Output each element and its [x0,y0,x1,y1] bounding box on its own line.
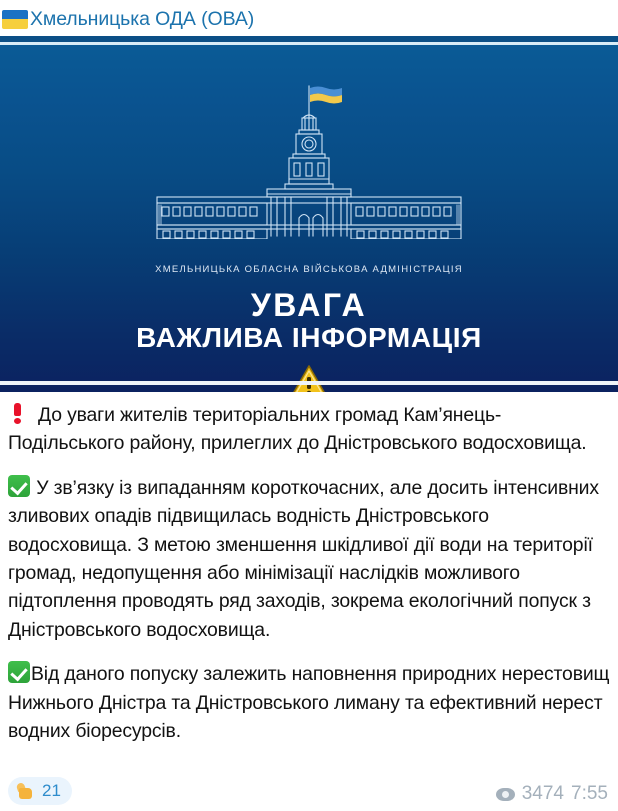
paragraph-text: До уваги жителів територіальних громад К… [8,404,587,454]
organization-name: ХМЕЛЬНИЦЬКА ОБЛАСНА ВІЙСЬКОВА АДМІНІСТРА… [0,264,618,275]
banner-bottom-line [0,381,618,385]
red-exclamation-emoji [8,402,28,424]
telegram-post: Хмельницька ОДА (ОВА) [0,0,618,811]
banner-headline-secondary: ВАЖЛИВА ІНФОРМАЦІЯ [0,322,618,354]
thumbs-up-emoji [16,781,36,801]
green-check-emoji [8,475,30,497]
message-paragraph: До уваги жителів територіальних громад К… [8,401,610,458]
channel-header[interactable]: Хмельницька ОДА (ОВА) [0,0,618,34]
post-banner-image[interactable]: ХМЕЛЬНИЦЬКА ОБЛАСНА ВІЙСЬКОВА АДМІНІСТРА… [0,36,618,392]
eye-icon [496,788,515,801]
paragraph-text: Від даного попуску залежить наповнення п… [8,663,609,742]
banner-headline-primary: УВАГА [0,287,618,323]
administration-building-line-art [0,84,618,239]
message-paragraph: У зв’язку із випаданням короткочасних, а… [8,474,610,644]
reaction-thumbs-up[interactable]: 21 [8,777,72,805]
ukraine-flag-icon [2,10,28,29]
green-check-emoji [8,661,30,683]
message-paragraph: Від даного попуску залежить наповнення п… [8,660,610,745]
post-time: 7:55 [571,783,608,805]
warning-triangle-emoji [0,364,618,392]
banner-hairline [0,42,618,45]
post-meta: 3474 7:55 [496,783,610,805]
paragraph-text: У зв’язку із випаданням короткочасних, а… [8,477,599,641]
reaction-count: 21 [42,781,61,801]
message-body: До уваги жителів територіальних громад К… [0,392,618,745]
view-count: 3474 [522,783,564,805]
channel-name: Хмельницька ОДА (ОВА) [30,8,254,30]
post-footer: 21 3474 7:55 [0,765,618,811]
